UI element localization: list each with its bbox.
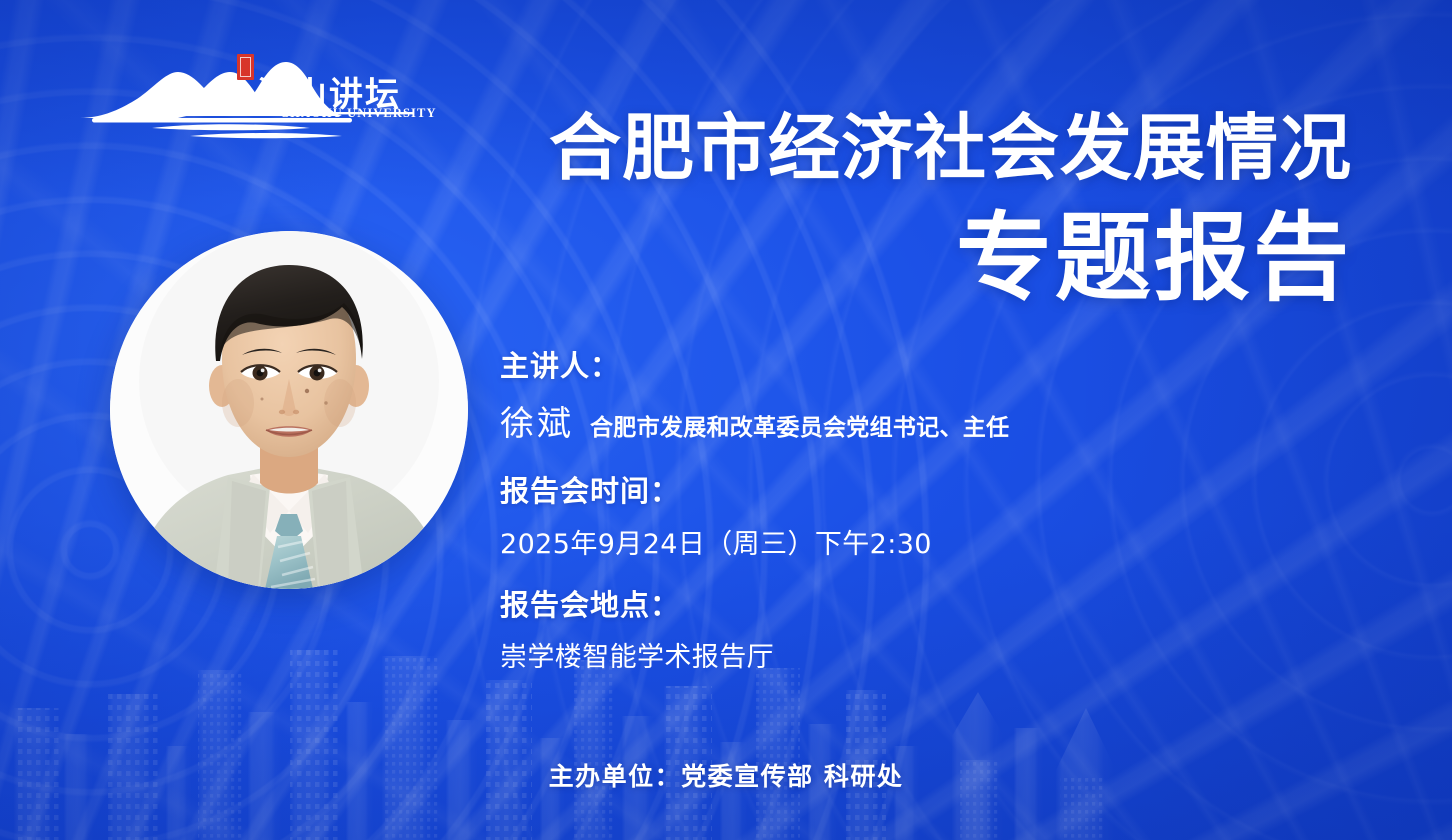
speaker-portrait [110, 231, 468, 589]
speaker-row: 徐斌 合肥市发展和改革委员会党组书记、主任 [500, 396, 1320, 445]
time-value: 2025年9月24日（周三）下午2:30 [500, 522, 1320, 561]
time-label: 报告会时间： [500, 473, 1320, 509]
speaker-label: 主讲人： [500, 348, 1320, 384]
organizer-footer: 主办单位：党委宣传部 科研处 [0, 757, 1452, 793]
speaker-title: 合肥市发展和改革委员会党组书记、主任 [590, 408, 1009, 442]
title-line-1: 合肥市经济社会发展情况 [412, 112, 1352, 184]
portrait-photo [110, 231, 468, 589]
place-label: 报告会地点： [500, 587, 1320, 623]
red-seal-icon [237, 54, 254, 80]
title-line-2: 专题报告 [412, 210, 1352, 306]
place-value: 崇学楼智能学术报告厅 [500, 635, 1320, 674]
speaker-name: 徐斌 [500, 396, 574, 445]
event-details: 主讲人： 徐斌 合肥市发展和改革委员会党组书记、主任 报告会时间： 2025年9… [500, 348, 1320, 674]
poster-title: 合肥市经济社会发展情况 专题报告 [412, 112, 1352, 306]
brand-logo: 汤山讲坛 CHAOHU UNIVERSITY [74, 52, 414, 144]
event-poster: 汤山讲坛 CHAOHU UNIVERSITY 合肥市经济社会发展情况 专题报告 [0, 0, 1452, 840]
